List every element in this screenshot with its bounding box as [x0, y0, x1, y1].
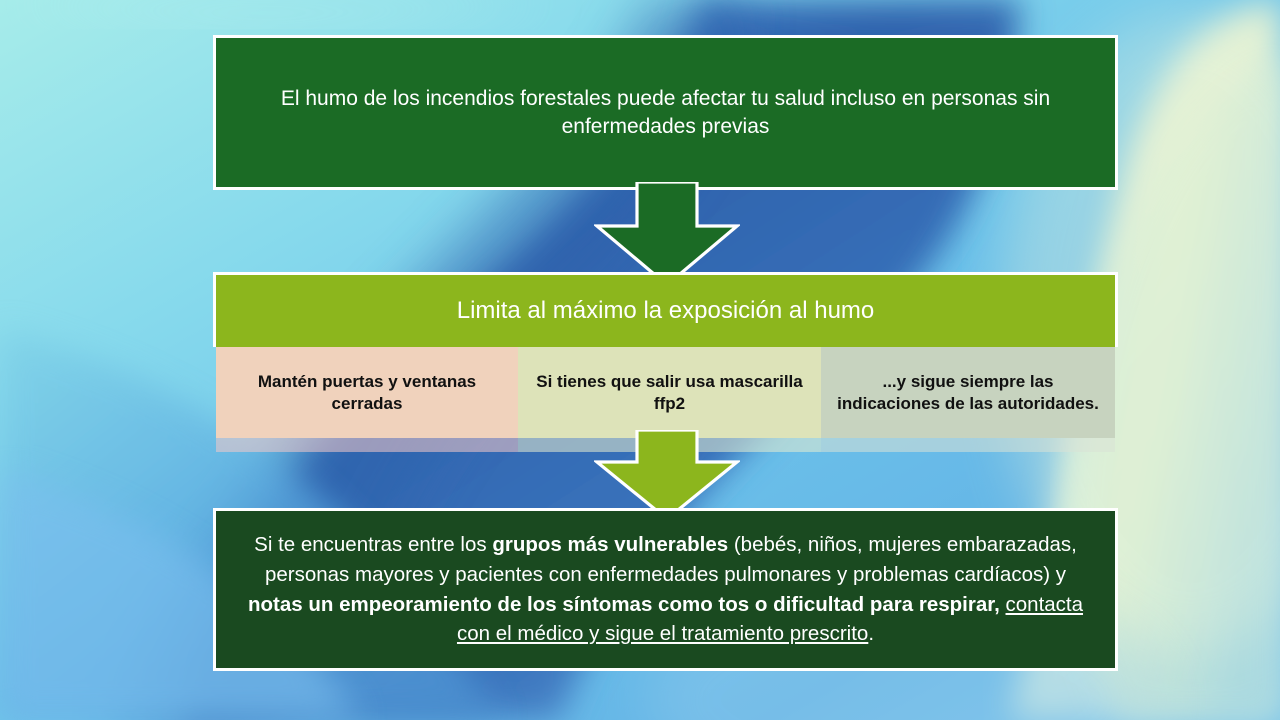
statement-box-top[interactable]: El humo de los incendios forestales pued…	[213, 35, 1118, 190]
advice-cell-use-ffp2-mask[interactable]: Si tienes que salir usa mascarilla ffp2	[518, 347, 821, 438]
bottom-bold-run-3: notas un empeoramiento de los síntomas c…	[248, 593, 1000, 616]
middle-header-box[interactable]: Limita al máximo la exposición al humo	[213, 272, 1118, 347]
advice-cell-2-shadow-strip	[821, 438, 1115, 452]
advice-cell-0-text: Mantén puertas y ventanas cerradas	[226, 371, 508, 415]
advice-cell-1-text: Si tienes que salir usa mascarilla ffp2	[528, 371, 811, 415]
smartart-process-diagram: El humo de los incendios forestales pued…	[0, 0, 1280, 720]
middle-header-text: Limita al máximo la exposición al humo	[457, 297, 875, 325]
statement-box-bottom-text: Si te encuentras entre los grupos más vu…	[244, 530, 1087, 649]
middle-group: Limita al máximo la exposición al humo M…	[213, 272, 1118, 438]
statement-box-bottom[interactable]: Si te encuentras entre los grupos más vu…	[213, 508, 1118, 671]
advice-cell-follow-authorities[interactable]: ...y sigue siempre las indicaciones de l…	[821, 347, 1115, 438]
statement-box-top-text: El humo de los incendios forestales pued…	[268, 85, 1063, 140]
advice-cell-keep-doors-windows-closed[interactable]: Mantén puertas y ventanas cerradas	[216, 347, 518, 438]
advice-cell-0-shadow-strip	[216, 438, 518, 452]
bottom-bold-run-1: grupos más vulnerables	[492, 533, 728, 556]
advice-cell-2-text: ...y sigue siempre las indicaciones de l…	[831, 371, 1105, 415]
